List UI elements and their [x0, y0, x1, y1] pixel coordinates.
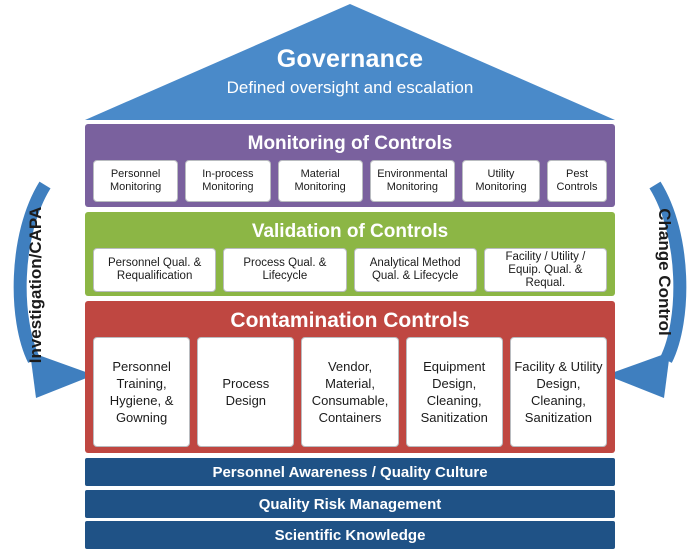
validation-card[interactable]: Analytical Method Qual. & Lifecycle — [354, 248, 477, 292]
foundation-bar-scientific-knowledge: Scientific Knowledge — [85, 521, 615, 549]
validation-card[interactable]: Process Qual. & Lifecycle — [223, 248, 346, 292]
contamination-card[interactable]: Vendor, Material, Consumable, Containers — [301, 337, 398, 447]
diagram-canvas: Investigation/CAPA Change Control Govern… — [0, 0, 700, 548]
contamination-controls-band: Contamination Controls Personnel Trainin… — [85, 301, 615, 453]
monitoring-of-controls-band: Monitoring of Controls Personnel Monitor… — [85, 124, 615, 207]
validation-of-controls-title: Validation of Controls — [85, 212, 615, 244]
foundation-bar-personnel-awareness: Personnel Awareness / Quality Culture — [85, 458, 615, 486]
contamination-controls-title: Contamination Controls — [85, 301, 615, 333]
monitoring-card[interactable]: In-process Monitoring — [185, 160, 270, 202]
contamination-card[interactable]: Process Design — [197, 337, 294, 447]
governance-text-block: Governance Defined oversight and escalat… — [85, 44, 615, 100]
monitoring-card[interactable]: Utility Monitoring — [462, 160, 540, 202]
validation-cards: Personnel Qual. & Requalification Proces… — [93, 248, 607, 292]
monitoring-cards: Personnel Monitoring In-process Monitori… — [93, 160, 607, 202]
governance-roof: Governance Defined oversight and escalat… — [85, 4, 615, 124]
validation-card[interactable]: Personnel Qual. & Requalification — [93, 248, 216, 292]
change-control-label: Change Control — [654, 172, 674, 372]
monitoring-card[interactable]: Pest Controls — [547, 160, 607, 202]
validation-card[interactable]: Facility / Utility / Equip. Qual. & Requ… — [484, 248, 607, 292]
monitoring-card[interactable]: Environmental Monitoring — [370, 160, 455, 202]
monitoring-card[interactable]: Material Monitoring — [278, 160, 363, 202]
contamination-card[interactable]: Facility & Utility Design, Cleaning, San… — [510, 337, 607, 447]
governance-title: Governance — [85, 44, 615, 74]
validation-of-controls-band: Validation of Controls Personnel Qual. &… — [85, 212, 615, 296]
contamination-cards: Personnel Training, Hygiene, & Gowning P… — [93, 337, 607, 447]
monitoring-of-controls-title: Monitoring of Controls — [85, 124, 615, 156]
investigation-capa-label: Investigation/CAPA — [26, 185, 46, 385]
contamination-card[interactable]: Equipment Design, Cleaning, Sanitization — [406, 337, 503, 447]
foundation-bar-quality-risk-management: Quality Risk Management — [85, 490, 615, 518]
contamination-card[interactable]: Personnel Training, Hygiene, & Gowning — [93, 337, 190, 447]
governance-subtitle: Defined oversight and escalation — [85, 76, 615, 100]
monitoring-card[interactable]: Personnel Monitoring — [93, 160, 178, 202]
